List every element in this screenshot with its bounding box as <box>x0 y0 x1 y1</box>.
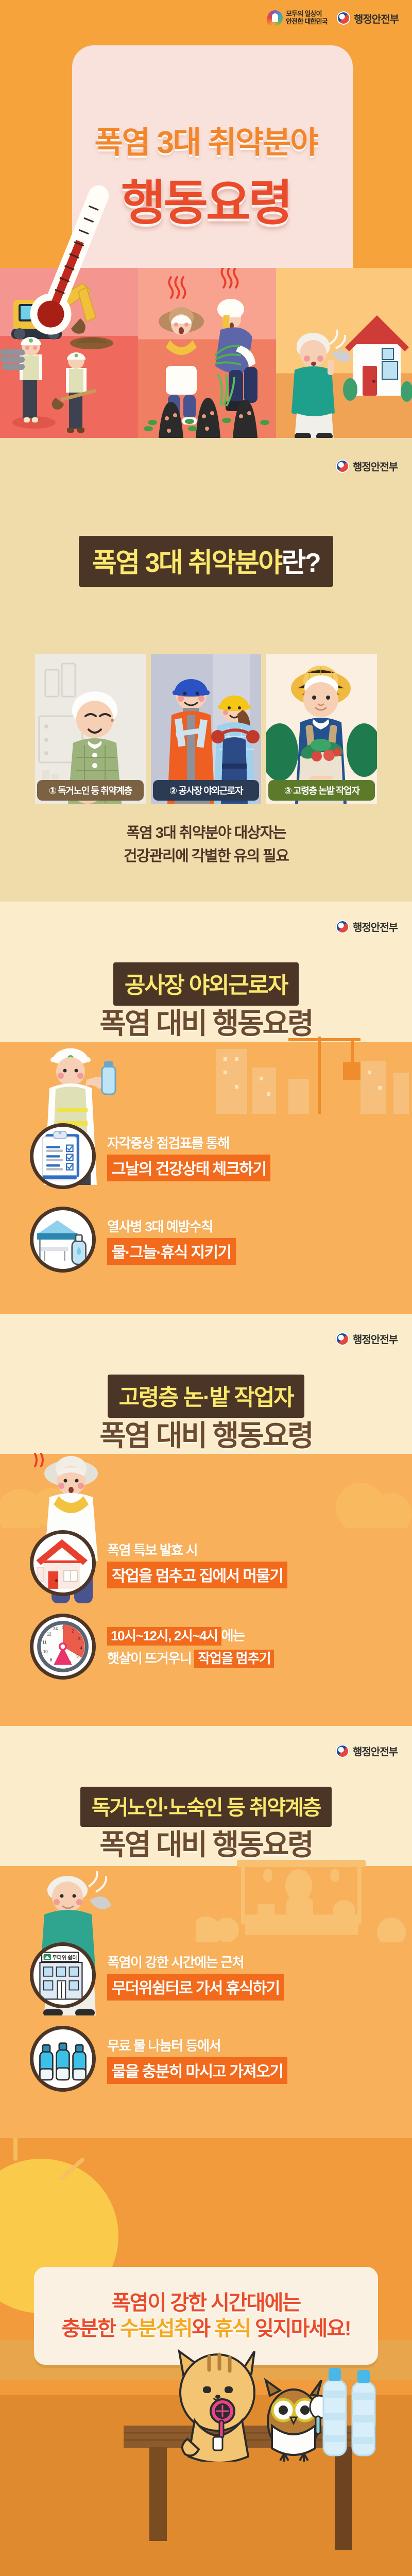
svg-text:8: 8 <box>50 1658 53 1663</box>
shade-tent-water-icon <box>30 1207 96 1273</box>
slogan-line1: 모두의 일상이 <box>286 10 322 18</box>
hero-panel-farm <box>138 268 276 438</box>
outro-line-2: 충분한 수분섭취와 휴식 잊지마세요! <box>62 2316 351 2342</box>
svg-text:24: 24 <box>53 1626 58 1631</box>
outro-part-c: 와 <box>192 2317 214 2340</box>
farm-worker-section: 행정안전부 고령층 논·밭 작업자 폭염 대비 행동요령 <box>0 1314 412 1726</box>
ministry-name: 행정안전부 <box>353 919 398 934</box>
section-subtitle: 폭염 대비 행동요령 <box>0 1421 412 1451</box>
hero-panel-elderly <box>276 268 412 438</box>
advice-plain: 햇살이 뜨거우니 <box>107 1651 194 1666</box>
svg-text:1: 1 <box>62 1625 64 1630</box>
note-line-1: 폭염 3대 취약분야 대상자는 <box>0 822 412 845</box>
taegeuk-icon <box>336 1332 349 1346</box>
action-item: 자각증상 점검표를 통해 그날의 건강상태 체크하기 <box>0 1123 412 1189</box>
note-line-2: 건강관리에 각별한 유의 필요 <box>0 845 412 868</box>
taegeuk-icon <box>337 11 350 25</box>
section-note: 폭염 3대 취약분야 대상자는 건강관리에 각별한 유의 필요 <box>0 822 412 868</box>
what-are-3-areas-section: 행정안전부 폭염 3대 취약분야란? <box>0 438 412 902</box>
clock-thermometer-icon: 123 456 78 101112 24 <box>30 1614 96 1680</box>
outro-part-d: 휴식 <box>214 2317 250 2340</box>
infographic-page: 모두의 일상이 안전한 대한민국 행정안전부 폭염 3대 취약분야 행동요령 <box>0 0 412 2576</box>
heading-tail: 란? <box>282 548 320 578</box>
hero-title-main: 행동요령 <box>0 164 412 234</box>
svg-text:5: 5 <box>76 1654 79 1658</box>
section-heading-band: 공사장 야외근로자 <box>113 962 299 1006</box>
action-line-2: 물을 충분히 마시고 가져오기 <box>107 2057 287 2084</box>
ministry-name: 행정안전부 <box>354 11 399 26</box>
action-item: 무료 물 나눔터 등에서 물을 충분히 마시고 가져오기 <box>0 2026 412 2092</box>
vulnerable-group-section: 행정안전부 독거노인·노숙인 등 취약계층 폭염 대비 행동요령 <box>0 1726 412 2138</box>
vulnerable-group-cards: ① 독거노인 등 취약계층 <box>35 654 377 804</box>
taegeuk-icon <box>336 460 349 473</box>
action-item-text: 무료 물 나눔터 등에서 물을 충분히 마시고 가져오기 <box>107 2033 287 2084</box>
action-line-1: 자각증상 점검표를 통해 <box>107 1133 270 1152</box>
taegeuk-icon <box>336 1744 349 1758</box>
ministry-logo: 행정안전부 <box>336 919 398 934</box>
ministry-name: 행정안전부 <box>353 1743 398 1758</box>
shelter-sign-text: 무더위 쉼터 <box>53 1954 77 1961</box>
slogan-mark-icon <box>267 10 283 26</box>
action-line-2: 무더위쉼터로 가서 휴식하기 <box>107 1974 284 2001</box>
advice-highlight: 작업을 멈추기 <box>194 1650 274 1668</box>
action-line-1: 10시~12시, 2시~4시에는 <box>107 1625 274 1645</box>
section-heading-wrap: 독거노인·노숙인 등 취약계층 폭염 대비 행동요령 <box>0 1787 412 1860</box>
ministry-logo: 행정안전부 <box>336 459 398 473</box>
cat-mascot <box>164 2343 272 2462</box>
heading-highlight: 폭염 3대 취약분야 <box>92 548 282 578</box>
card-farm-worker[interactable]: ③ 고령층 논밭 작업자 <box>266 654 377 804</box>
action-items: 폭염 특보 발효 시 작업을 멈추고 집에서 머물기 123 456 78 <box>0 1530 412 1697</box>
section-heading-band: 폭염 3대 취약분야란? <box>79 536 333 587</box>
ministry-name: 행정안전부 <box>353 1331 398 1346</box>
card-elderly-alone[interactable]: ① 독거노인 등 취약계층 <box>35 654 146 804</box>
header-logos: 모두의 일상이 안전한 대한민국 행정안전부 <box>267 10 399 26</box>
svg-text:2: 2 <box>72 1629 74 1633</box>
section-heading-wrap: 폭염 3대 취약분야란? <box>0 536 412 587</box>
action-item-text: 10시~12시, 2시~4시에는 햇살이 뜨거우니 작업을 멈추기 <box>107 1623 274 1670</box>
action-item: 123 456 78 101112 24 10시~12시, 2시~4시에는 햇살… <box>0 1614 412 1680</box>
action-item: 폭염 특보 발효 시 작업을 멈추고 집에서 머물기 <box>0 1530 412 1596</box>
action-item-text: 자각증상 점검표를 통해 그날의 건강상태 체크하기 <box>107 1131 270 1181</box>
street-stall-silhouette <box>196 1855 412 1942</box>
card-caption: ① 독거노인 등 취약계층 <box>37 780 144 801</box>
svg-text:10: 10 <box>43 1649 48 1654</box>
action-item: 열사병 3대 예방수칙 물·그늘·휴식 지키기 <box>0 1207 412 1273</box>
card-caption: ② 공사장 야외근로자 <box>153 780 260 801</box>
card-caption: ③ 고령층 논밭 작업자 <box>268 780 375 801</box>
house-icon <box>30 1530 96 1596</box>
section-heading-band: 독거노인·노숙인 등 취약계층 <box>80 1787 332 1827</box>
safety-slogan-logo: 모두의 일상이 안전한 대한민국 <box>267 10 328 26</box>
action-line-2: 햇살이 뜨거우니 작업을 멈추기 <box>107 1648 274 1667</box>
hero-title-top: 폭염 3대 취약분야 <box>0 117 412 162</box>
cooling-shelter-building-icon: 무더위 쉼터 <box>30 1942 96 2008</box>
clipboard-checklist-icon <box>30 1123 96 1189</box>
action-item-text: 폭염이 강한 시간에는 근처 무더위쉼터로 가서 휴식하기 <box>107 1950 284 2001</box>
outro-part-e: 잊지마세요! <box>250 2317 350 2340</box>
water-bottles-prop <box>320 2360 382 2468</box>
svg-text:12: 12 <box>47 1632 51 1637</box>
section-subtitle: 폭염 대비 행동요령 <box>0 1830 412 1860</box>
construction-worker-section: 행정안전부 공사장 야외근로자 폭염 대비 행동요령 <box>0 902 412 1314</box>
svg-text:11: 11 <box>42 1640 47 1645</box>
ministry-name: 행정안전부 <box>353 459 398 473</box>
outro-part-a: 충분한 <box>62 2317 121 2340</box>
slogan-line2: 안전한 대한민국 <box>286 18 328 25</box>
action-item-text: 열사병 3대 예방수칙 물·그늘·휴식 지키기 <box>107 1214 236 1265</box>
action-item-text: 폭염 특보 발효 시 작업을 멈추고 집에서 머물기 <box>107 1538 287 1588</box>
ministry-logo: 행정안전부 <box>337 11 399 26</box>
section-heading-wrap: 공사장 야외근로자 폭염 대비 행동요령 <box>0 962 412 1039</box>
action-line-2: 물·그늘·휴식 지키기 <box>107 1238 236 1265</box>
section-subtitle: 폭염 대비 행동요령 <box>0 1009 412 1039</box>
action-line-1: 폭염이 강한 시간에는 근처 <box>107 1952 284 1971</box>
action-line-1: 폭염 특보 발효 시 <box>107 1540 287 1559</box>
taegeuk-icon <box>336 920 349 934</box>
card-outdoor-worker[interactable]: ② 공사장 야외근로자 <box>151 654 262 804</box>
time-range-highlight: 10시~12시, 2시~4시 <box>107 1627 221 1646</box>
outro-part-b: 수분섭취 <box>120 2317 192 2340</box>
owl-mascot <box>257 2376 330 2464</box>
action-line-2: 그날의 건강상태 체크하기 <box>107 1155 270 1181</box>
action-line-2: 작업을 멈추고 집에서 머물기 <box>107 1562 287 1588</box>
outro-section: 폭염이 강한 시간대에는 충분한 수분섭취와 휴식 잊지마세요! <box>0 2138 412 2576</box>
action-item: 무더위 쉼터 폭염이 강한 시간에는 근처 무더위쉼터로 가서 휴식하기 <box>0 1942 412 2008</box>
section-heading-wrap: 고령층 논·밭 작업자 폭염 대비 행동요령 <box>0 1375 412 1451</box>
action-line-1: 열사병 3대 예방수칙 <box>107 1216 236 1235</box>
ministry-logo: 행정안전부 <box>336 1331 398 1346</box>
ministry-logo: 행정안전부 <box>336 1743 398 1758</box>
action-line-1: 무료 물 나눔터 등에서 <box>107 2036 287 2055</box>
action-items: 무더위 쉼터 폭염이 강한 시간에는 근처 무더위쉼터로 가서 휴식하기 <box>0 1942 412 2109</box>
action-items: 자각증상 점검표를 통해 그날의 건강상태 체크하기 <box>0 1123 412 1290</box>
svg-text:4: 4 <box>80 1646 82 1650</box>
time-range-tail: 에는 <box>221 1628 245 1643</box>
svg-text:3: 3 <box>78 1637 81 1641</box>
section-heading-band: 고령층 논·밭 작업자 <box>108 1375 305 1418</box>
outro-line-1: 폭염이 강한 시간대에는 <box>112 2290 300 2316</box>
hero-section: 모두의 일상이 안전한 대한민국 행정안전부 폭염 3대 취약분야 행동요령 <box>0 0 412 438</box>
water-bottles-icon <box>30 2026 96 2092</box>
